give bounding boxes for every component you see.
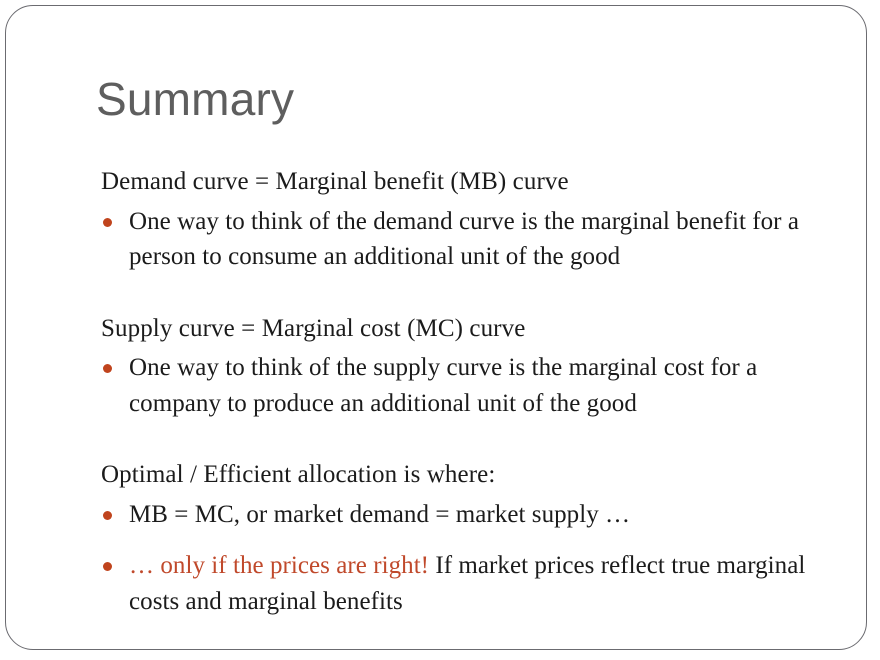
section-optimal-allocation: Optimal / Efficient allocation is where:… (96, 459, 836, 619)
slide-body: Demand curve = Marginal benefit (MB) cur… (96, 166, 836, 621)
list-item-label: One way to think of the demand curve is … (129, 204, 836, 275)
section-demand-curve: Demand curve = Marginal benefit (MB) cur… (96, 166, 836, 275)
section-supply-curve: Supply curve = Marginal cost (MC) curve … (96, 313, 836, 422)
list-item-label: One way to think of the supply curve is … (129, 350, 836, 421)
list-item: One way to think of the supply curve is … (96, 350, 836, 421)
list-item-accent-phrase: … only if the prices are right! (129, 552, 429, 579)
list-item-label: MB = MC, or market demand = market suppl… (129, 497, 836, 533)
list-item-label: … only if the prices are right! If marke… (129, 548, 836, 619)
section-lead-text: Optimal / Efficient allocation is where: (101, 459, 836, 492)
bullet-dot-icon (103, 562, 112, 571)
spacer (96, 534, 836, 548)
section-lead-text: Demand curve = Marginal benefit (MB) cur… (101, 166, 836, 199)
slide-canvas: Summary Demand curve = Marginal benefit … (5, 5, 867, 650)
section-lead-text: Supply curve = Marginal cost (MC) curve (101, 313, 836, 346)
list-item: … only if the prices are right! If marke… (96, 548, 836, 619)
page-title: Summary (96, 76, 294, 122)
bullet-dot-icon (103, 364, 112, 373)
bullet-dot-icon (103, 511, 112, 520)
list-item: MB = MC, or market demand = market suppl… (96, 497, 836, 533)
list-item: One way to think of the demand curve is … (96, 204, 836, 275)
bullet-dot-icon (103, 218, 112, 227)
